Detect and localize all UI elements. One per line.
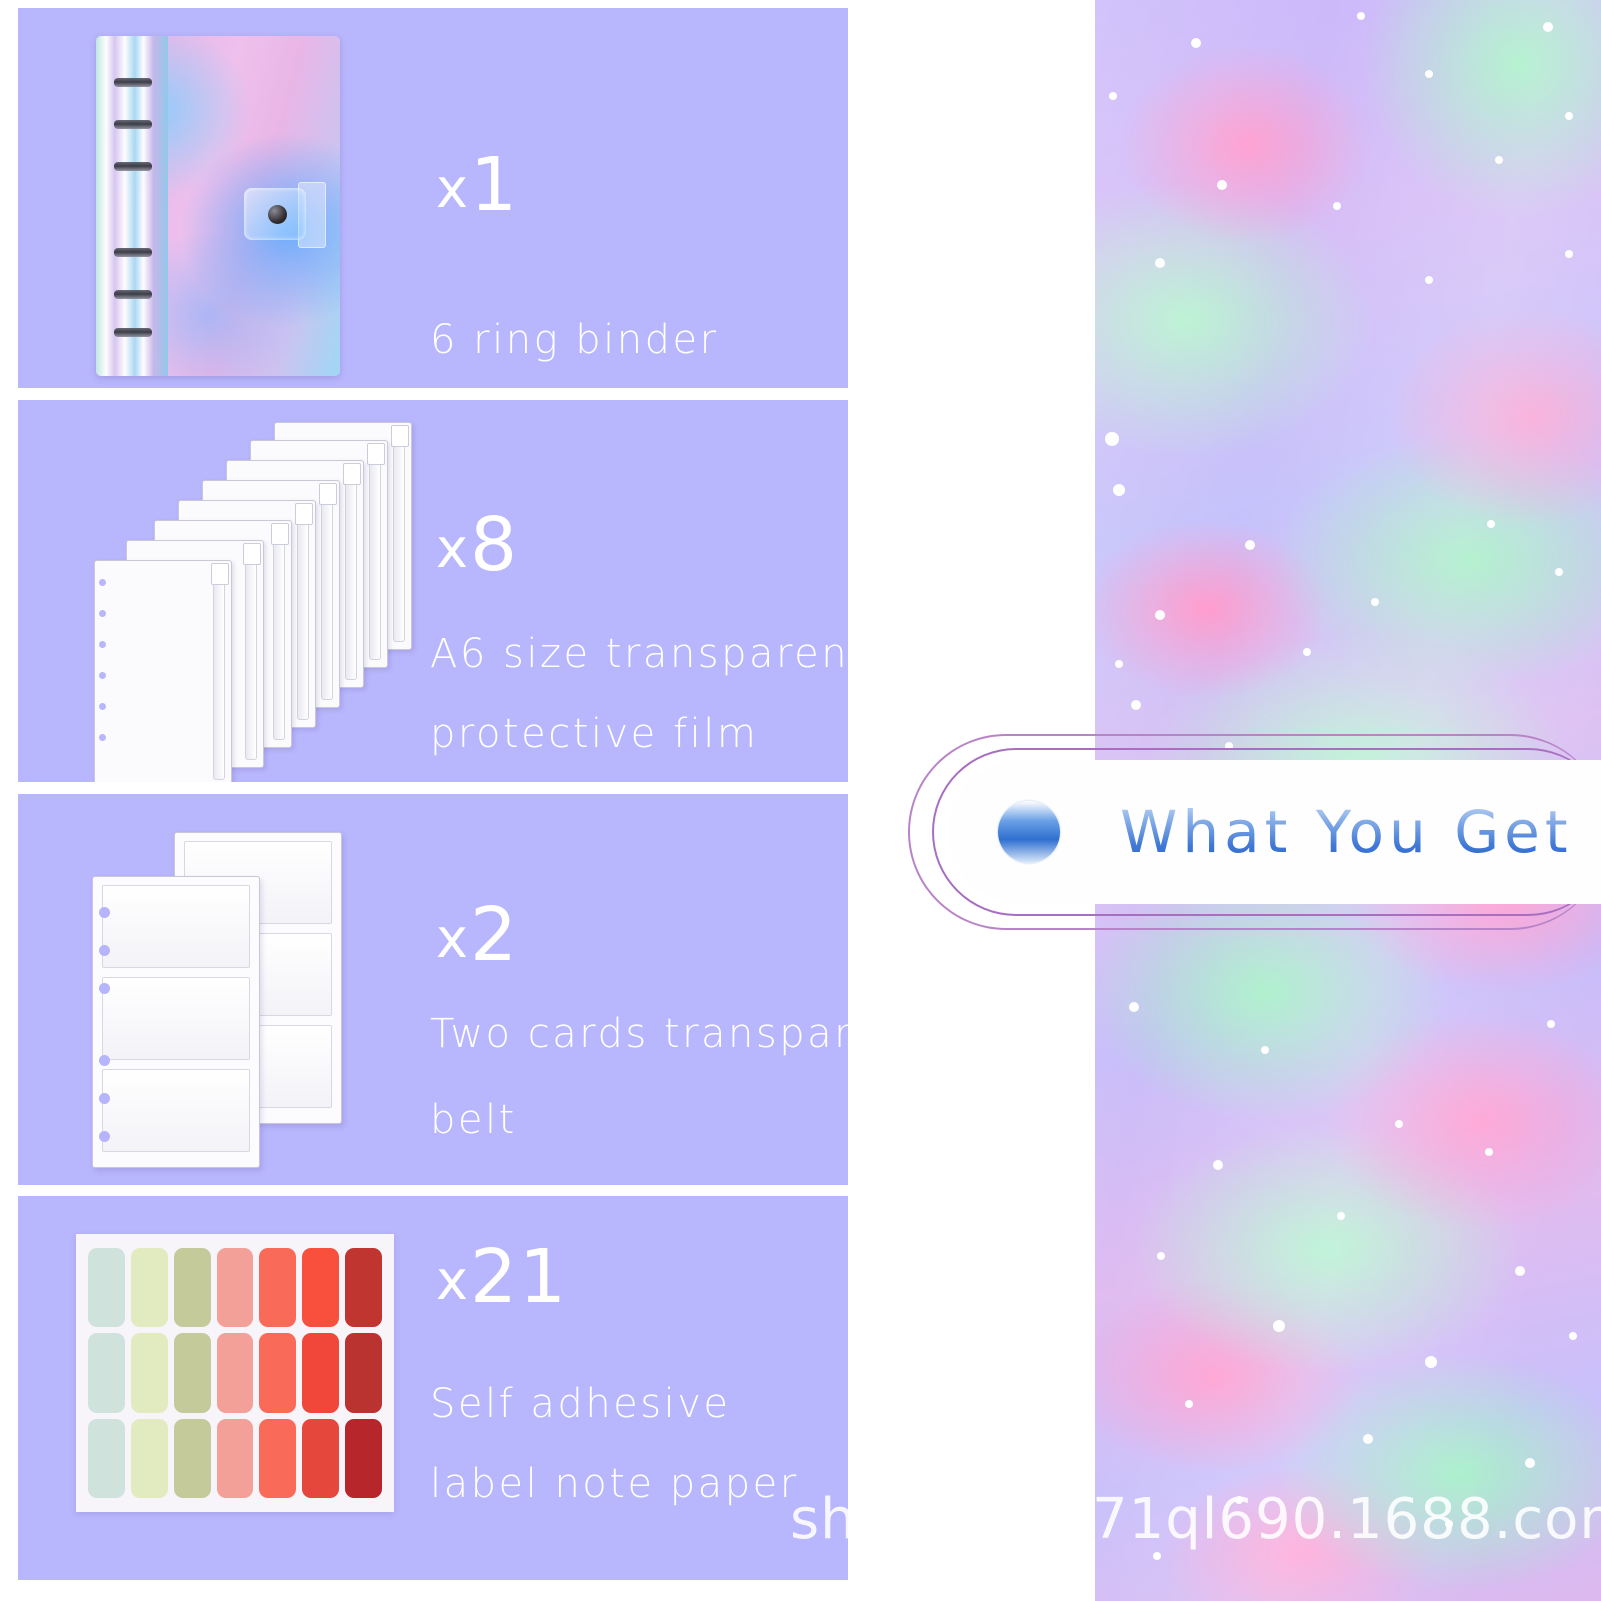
- sticker-label: [259, 1419, 296, 1498]
- sparkle-dot-icon: [1543, 22, 1553, 32]
- sticker-label: [174, 1419, 211, 1498]
- quantity-value: 2: [470, 892, 519, 978]
- sparkle-dot-icon: [1153, 1552, 1161, 1560]
- sticker-label: [345, 1248, 382, 1327]
- sticker-label: [131, 1248, 168, 1327]
- binder-ring: [114, 328, 152, 337]
- binder-ring: [114, 290, 152, 299]
- binder-ring: [114, 248, 152, 257]
- quantity-value: 1: [470, 142, 519, 228]
- sticker-label: [302, 1333, 339, 1412]
- product-panel-card-belt: x2 Two cards transparent belt: [18, 794, 848, 1185]
- what-you-get-banner: What You Get: [908, 734, 1601, 930]
- item-caption-line-2: protective film: [430, 702, 758, 767]
- watermark-url: 71ql690.1688.com: [1092, 1487, 1601, 1552]
- sticker-label: [88, 1248, 125, 1327]
- item-caption-line-1: Self adhesive: [430, 1372, 731, 1437]
- sticker-label: [174, 1248, 211, 1327]
- sticker-label: [174, 1333, 211, 1412]
- sticker-label: [259, 1248, 296, 1327]
- sparkle-dot-icon: [1395, 1120, 1403, 1128]
- item-caption-line-1: Two cards transparent: [430, 1002, 848, 1067]
- sticker-label: [345, 1419, 382, 1498]
- sparkle-dot-icon: [1525, 1458, 1535, 1468]
- quantity-value: 21: [470, 1234, 568, 1320]
- sticker-label: [88, 1333, 125, 1412]
- sticker-label: [217, 1333, 254, 1412]
- product-panel-protective-film: x8 A6 size transparent protective film: [18, 400, 848, 782]
- binder-ring: [114, 162, 152, 171]
- card-belt-product-image: [78, 810, 408, 1170]
- sparkle-dot-icon: [1155, 610, 1165, 620]
- sparkle-dot-icon: [1515, 1266, 1525, 1276]
- sparkle-dot-icon: [1131, 700, 1141, 710]
- quantity-prefix: x: [436, 907, 470, 970]
- item-caption-line-1: 6 ring binder: [430, 308, 719, 373]
- product-panel-label-stickers: x21 Self adhesive label note paper sh: [18, 1196, 848, 1580]
- sparkle-dot-icon: [1565, 112, 1573, 120]
- sticker-label: [217, 1419, 254, 1498]
- quantity-prefix: x: [436, 157, 470, 220]
- sticker-label: [302, 1248, 339, 1327]
- sparkle-dot-icon: [1495, 156, 1503, 164]
- binder-ring: [114, 78, 152, 87]
- sparkle-dot-icon: [1425, 276, 1433, 284]
- sparkle-dot-icon: [1273, 1320, 1285, 1332]
- card-sleeve-front: [92, 876, 260, 1168]
- sparkle-dot-icon: [1191, 38, 1201, 48]
- sticker-label: [131, 1419, 168, 1498]
- sparkle-dot-icon: [1115, 660, 1123, 668]
- binder-spine: [96, 36, 168, 376]
- sparkle-dot-icon: [1485, 1148, 1493, 1156]
- sparkle-dot-icon: [1555, 568, 1563, 576]
- sparkle-dot-icon: [1363, 1434, 1373, 1444]
- product-panel-binder: x1 6 ring binder: [18, 8, 848, 388]
- sticker-label: [217, 1248, 254, 1327]
- sparkle-dot-icon: [1425, 70, 1433, 78]
- item-caption-line-2: label note paper: [430, 1452, 799, 1517]
- item-caption-line-1: A6 size transparent: [430, 622, 848, 687]
- sparkle-dot-icon: [1109, 92, 1117, 100]
- sticker-label: [302, 1419, 339, 1498]
- quantity-prefix: x: [436, 1249, 470, 1312]
- sparkle-dot-icon: [1261, 1046, 1269, 1054]
- quantity-label: x21: [436, 1240, 568, 1314]
- sparkle-dot-icon: [1303, 648, 1311, 656]
- quantity-label: x8: [436, 508, 519, 582]
- sticker-label: [259, 1333, 296, 1412]
- sparkle-dot-icon: [1185, 1400, 1193, 1408]
- sparkle-dot-icon: [1487, 520, 1495, 528]
- binder-product-image: [96, 36, 340, 376]
- sparkle-dot-icon: [1333, 202, 1341, 210]
- quantity-label: x2: [436, 898, 519, 972]
- film-sheet: [94, 560, 232, 782]
- sticker-sheet-product-image: [76, 1234, 394, 1512]
- sparkle-dot-icon: [1357, 12, 1365, 20]
- quantity-value: 8: [470, 502, 519, 588]
- sparkle-dot-icon: [1129, 1002, 1139, 1012]
- item-caption-line-2: belt: [430, 1088, 517, 1153]
- sparkle-dot-icon: [1245, 540, 1255, 550]
- sticker-label: [88, 1419, 125, 1498]
- sparkle-dot-icon: [1213, 1160, 1223, 1170]
- sparkle-dot-icon: [1155, 258, 1165, 268]
- sparkle-dot-icon: [1569, 1332, 1577, 1340]
- sparkle-dot-icon: [1105, 432, 1119, 446]
- sparkle-dot-icon: [1217, 180, 1227, 190]
- watermark-left: sh: [790, 1487, 848, 1552]
- sparkle-dot-icon: [1425, 1356, 1437, 1368]
- sparkle-dot-icon: [1371, 598, 1379, 606]
- quantity-prefix: x: [436, 517, 470, 580]
- binder-ring: [114, 120, 152, 129]
- sparkle-dot-icon: [1157, 1252, 1165, 1260]
- sparkle-dot-icon: [1337, 1212, 1345, 1220]
- binder-snap-button-icon: [244, 188, 306, 240]
- banner-title: What You Get: [1120, 798, 1573, 866]
- sparkle-dot-icon: [1113, 484, 1125, 496]
- banner-pill: What You Get: [948, 760, 1601, 904]
- quantity-label: x1: [436, 148, 519, 222]
- sparkle-dot-icon: [1547, 1020, 1555, 1028]
- blue-gradient-dot-icon: [998, 801, 1060, 863]
- sparkle-dot-icon: [1565, 250, 1573, 258]
- protective-film-product-image: [82, 412, 412, 772]
- sticker-label: [345, 1333, 382, 1412]
- sticker-label: [131, 1333, 168, 1412]
